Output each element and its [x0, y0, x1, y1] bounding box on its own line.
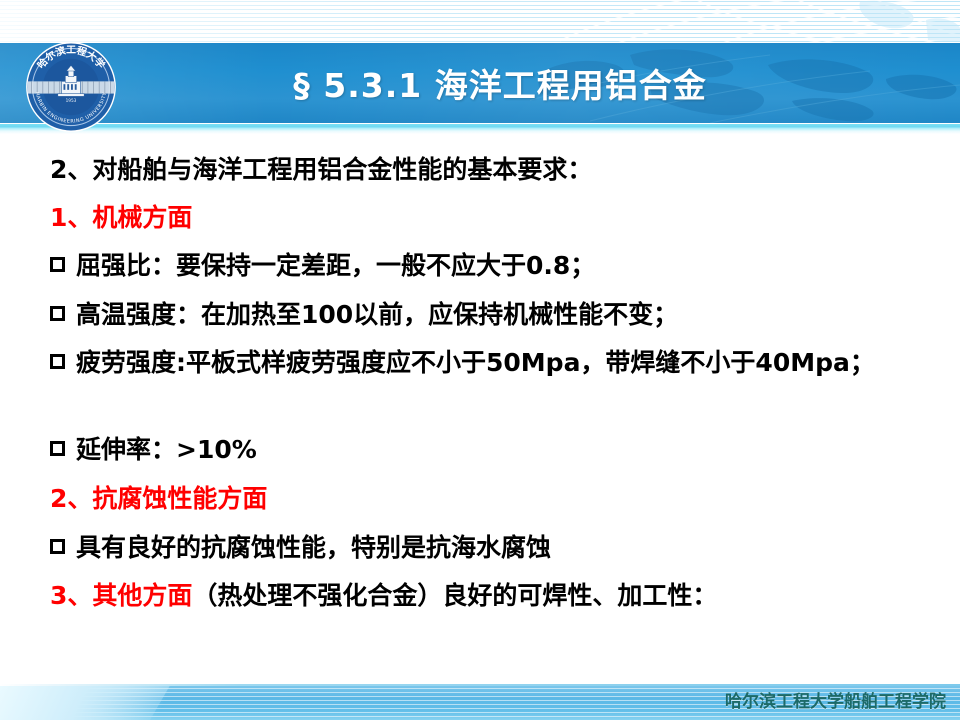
slide-title: § 5.3.1 海洋工程用铝合金 [150, 60, 850, 112]
header-accent-strip-fade [0, 131, 960, 134]
slide-header: 1953 哈尔滨工程大学 HARBIN ENGINEERING UNIVERSI… [0, 0, 960, 134]
slide: 1953 哈尔滨工程大学 HARBIN ENGINEERING UNIVERSI… [0, 0, 960, 720]
body-line-high-temp-strength: 高温强度：在加热至100以前，应保持机械性能不变； [50, 295, 950, 331]
body-line-heading-mechanical: 1、机械方面 [50, 198, 950, 234]
footer-institution-name: 哈尔滨工程大学船舶工程学院 [725, 687, 946, 712]
line-text-highlight: 3、其他方面 [50, 581, 192, 610]
square-bullet-icon [50, 539, 65, 554]
body-line-yield-ratio: 屈强比：要保持一定差距，一般不应大于0.8； [50, 246, 950, 282]
header-accent-strip [0, 123, 960, 131]
line-text: 屈强比：要保持一定差距，一般不应大于0.8； [76, 251, 595, 280]
footer-wedge [0, 684, 230, 720]
square-bullet-icon [50, 306, 65, 321]
slide-body: 2、对船舶与海洋工程用铝合金性能的基本要求： 1、机械方面 屈强比：要保持一定差… [0, 150, 960, 650]
line-text: 1、机械方面 [50, 203, 192, 232]
line-text: 疲劳强度:平板式样疲劳强度应不小于50Mpa，带焊缝不小于40Mpa； [76, 348, 875, 377]
footer-top-line [0, 684, 960, 686]
body-line-heading-other: 3、其他方面（热处理不强化合金）良好的可焊性、加工性： [50, 576, 950, 612]
line-text: 2、对船舶与海洋工程用铝合金性能的基本要求： [50, 155, 592, 184]
square-bullet-icon [50, 441, 65, 456]
line-text: 具有良好的抗腐蚀性能，特别是抗海水腐蚀 [76, 533, 551, 562]
logo-year: 1953 [66, 98, 77, 103]
line-text: （热处理不强化合金）良好的可焊性、加工性： [192, 581, 717, 610]
line-text: 2、抗腐蚀性能方面 [50, 484, 267, 513]
slide-footer: 哈尔滨工程大学船舶工程学院 [0, 684, 960, 720]
square-bullet-icon [50, 354, 65, 369]
body-line-intro: 2、对船舶与海洋工程用铝合金性能的基本要求： [50, 150, 950, 186]
line-text: 高温强度：在加热至100以前，应保持机械性能不变； [76, 300, 678, 329]
body-line-corrosion-resistance: 具有良好的抗腐蚀性能，特别是抗海水腐蚀 [50, 528, 950, 564]
line-text: 延伸率：>10% [76, 435, 257, 464]
body-line-elongation: 延伸率：>10% [50, 430, 950, 466]
globe-graticule-icon [560, 0, 960, 43]
body-line-fatigue-strength: 疲劳强度:平板式样疲劳强度应不小于50Mpa，带焊缝不小于40Mpa； [50, 344, 935, 382]
university-logo: 1953 哈尔滨工程大学 HARBIN ENGINEERING UNIVERSI… [24, 40, 118, 134]
square-bullet-icon [50, 257, 65, 272]
body-line-heading-corrosion: 2、抗腐蚀性能方面 [50, 479, 950, 515]
